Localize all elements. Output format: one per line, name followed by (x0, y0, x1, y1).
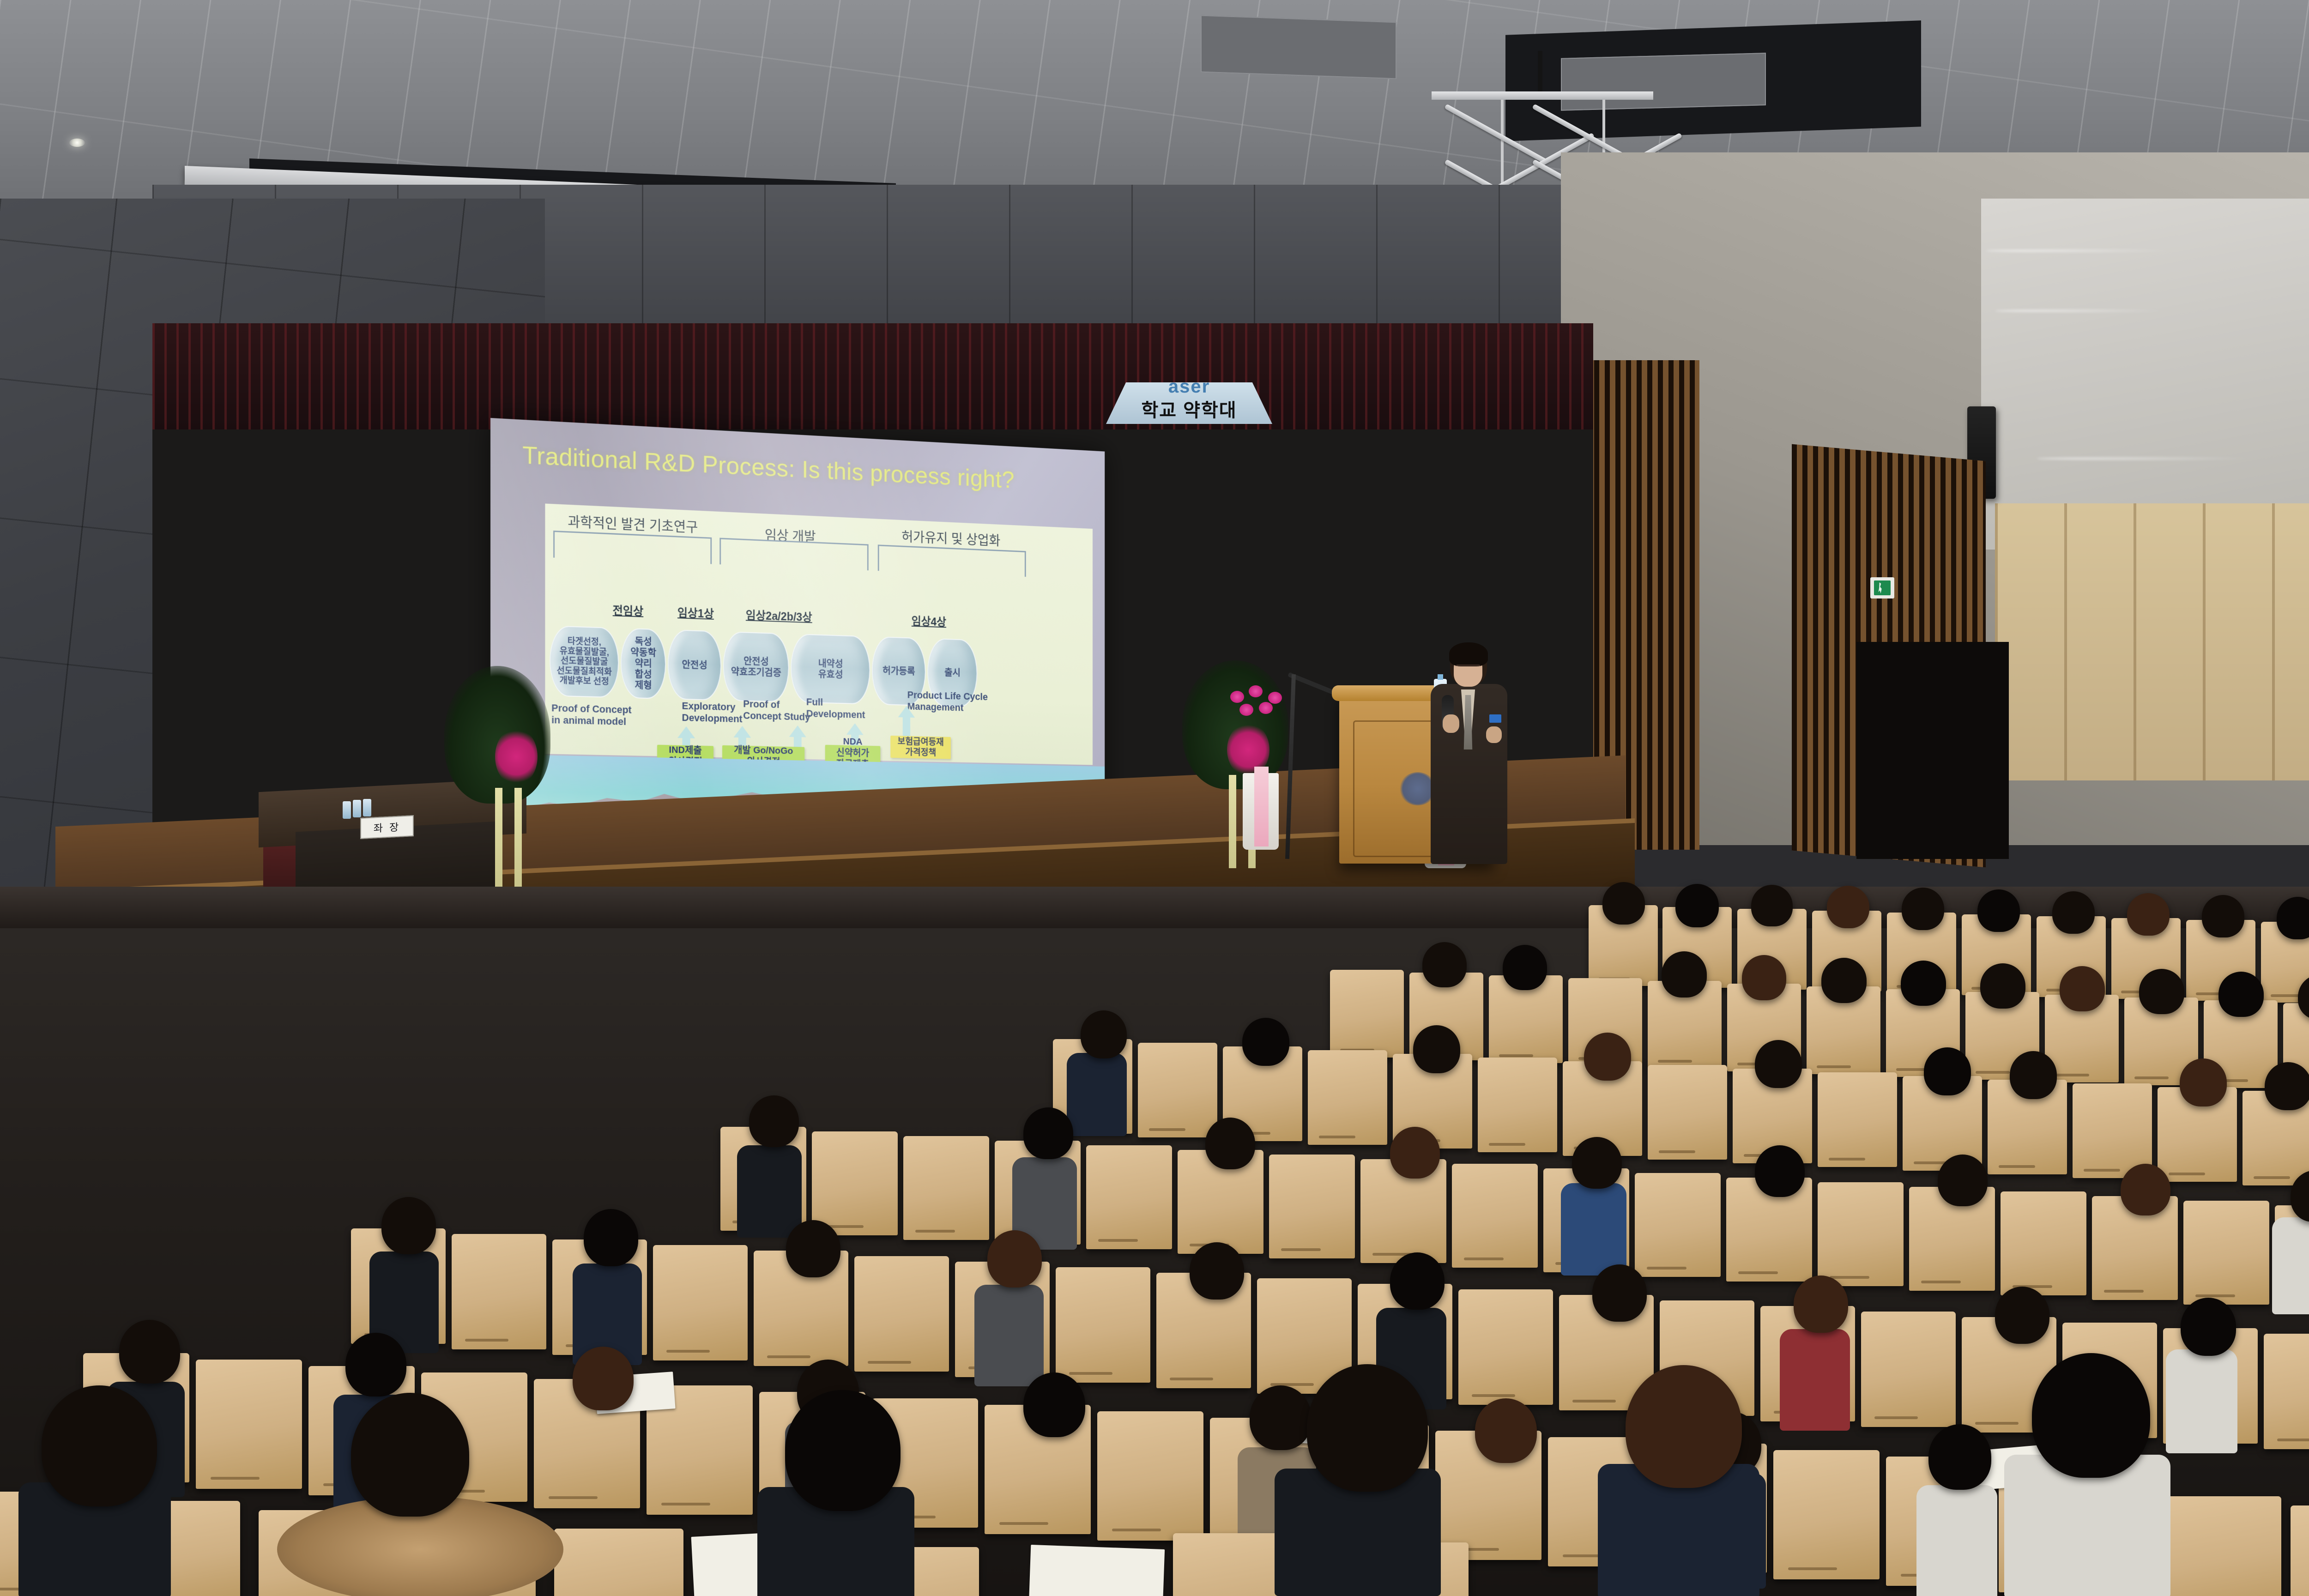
attendee-head-f10 (1250, 1385, 1312, 1450)
seat-d2[interactable] (903, 1136, 989, 1240)
attendee-head-b5 (1742, 955, 1786, 1000)
attendee-head-e10 (1390, 1252, 1445, 1310)
attendee-body-e18 (2166, 1349, 2237, 1453)
english-label-0: Proof of Concept in animal model (551, 702, 631, 728)
attendee-head-e18 (2181, 1298, 2236, 1356)
seat-e3[interactable] (653, 1245, 748, 1360)
pipeline-stage-3: 안전성 약효조기검증 (723, 631, 789, 702)
notepad-foreground-2 (1029, 1545, 1165, 1596)
presenter-glasses (1456, 665, 1481, 671)
presenter-hand-lapel (1486, 726, 1502, 743)
presenter (1427, 644, 1508, 861)
attendee-head-e6 (987, 1230, 1042, 1288)
slide-title: Traditional R&D Process: Is this process… (522, 441, 1105, 498)
attendee-head-e12 (1592, 1264, 1647, 1322)
projection-screen: Traditional R&D Process: Is this process… (490, 418, 1105, 828)
attendee-head-c13 (2180, 1058, 2227, 1106)
attendee-head-c6 (1584, 1033, 1631, 1081)
seat-e5[interactable] (854, 1256, 949, 1372)
attendee-head-a9 (2202, 895, 2244, 937)
attendee-head-e14 (1794, 1276, 1848, 1333)
seat-d6[interactable] (1269, 1155, 1355, 1258)
seat-c5[interactable] (1478, 1058, 1557, 1152)
seat-f1[interactable] (196, 1360, 302, 1489)
attendee-head-b8 (1980, 963, 2025, 1009)
phase-group-1-bracket (719, 538, 868, 571)
seat-g13[interactable] (2291, 1505, 2309, 1596)
seat-c7[interactable] (1648, 1065, 1727, 1160)
attendee-head-b7 (1901, 961, 1946, 1006)
presenter-hand-mic (1443, 714, 1459, 733)
seat-e1[interactable] (452, 1234, 546, 1349)
attendee-head-d15 (2121, 1164, 2170, 1215)
seat-d14[interactable] (2001, 1191, 2086, 1295)
seat-c3[interactable] (1308, 1050, 1387, 1145)
attendee-head-f8 (1023, 1372, 1085, 1437)
auditorium-lecture-scene: SANYO aser 학교 약학대 Traditional R&D Proces… (0, 0, 2309, 1596)
seat-f15[interactable] (1773, 1450, 1880, 1579)
water-bottle-2 (353, 800, 361, 817)
english-label-1: Exploratory Development (682, 700, 743, 725)
attendee-head-f16 (1928, 1424, 1991, 1490)
attendee-head-b2 (1503, 945, 1547, 990)
attendee-body-e14 (1780, 1329, 1850, 1431)
attendee-head-d13 (1938, 1155, 1988, 1206)
decision-box-3: 보험급여등재 가격정책 (890, 736, 951, 759)
attendee-head-c0 (1081, 1010, 1127, 1058)
pipeline-stage-4: 내약성 유효성 (791, 634, 870, 705)
attendee-head-e0 (381, 1197, 436, 1254)
attendee-head-f4 (573, 1347, 634, 1410)
english-label-2: Proof of Concept Study (743, 698, 810, 723)
banner-line-bottom: 학교 약학대 (1141, 395, 1237, 422)
attendee-body-e6 (974, 1285, 1044, 1386)
water-bottle-1 (343, 801, 351, 819)
seat-d8[interactable] (1452, 1164, 1538, 1268)
attendee-head-g2-fur (351, 1393, 469, 1517)
seat-b0[interactable] (1330, 970, 1404, 1058)
seat-c9[interactable] (1818, 1072, 1897, 1167)
attendee-body-d0 (737, 1145, 802, 1238)
pipeline-stage-0: 타겟선정, 유효물질발굴, 선도물질발굴 선도물질최적화 개발후보 선정 (550, 625, 619, 698)
phase-group-0-bracket (553, 531, 712, 564)
attendee-body-d9 (1561, 1183, 1626, 1276)
attendee-head-c8 (1755, 1040, 1802, 1088)
seat-d16[interactable] (2183, 1201, 2269, 1305)
phase-group-2-bracket (878, 544, 1026, 577)
seat-d4[interactable] (1086, 1145, 1172, 1249)
phase-marker-3: 임상4상 (912, 612, 946, 629)
attendee-head-d3 (1023, 1107, 1073, 1159)
attendee-head-c11 (2010, 1051, 2057, 1099)
stage-curtain (152, 323, 1593, 429)
seat-d1[interactable] (812, 1131, 898, 1235)
slide-diagram: 과학적인 발견 기초연구 임상 개발 허가유지 및 상업화 전임상 임상1상 임… (545, 503, 1093, 765)
right-doorway (1856, 642, 2009, 859)
seat-d10[interactable] (1635, 1173, 1721, 1277)
ceiling-tile-a (1201, 15, 1396, 79)
seat-d12[interactable] (1818, 1182, 1904, 1286)
pipeline-stage-2: 안전성 (668, 629, 721, 701)
emergency-exit-sign (1870, 577, 1894, 598)
right-wall-white-panels (1981, 199, 2309, 550)
attendee-head-d5 (1205, 1118, 1255, 1169)
phase-marker-2: 임상2a/2b/3상 (746, 606, 812, 625)
pipeline-stage-1: 독성 약동학 약리 합성 제형 (621, 628, 666, 699)
attendee-head-g5 (785, 1390, 901, 1511)
presenter-name-badge (1489, 714, 1501, 723)
phase-marker-1: 임상1상 (677, 604, 714, 622)
chairperson-nameplate: 좌 장 (360, 815, 414, 839)
attendee-head-b10 (2139, 969, 2184, 1014)
attendee-head-d11 (1755, 1145, 1805, 1197)
attendee-head-f2 (345, 1333, 406, 1396)
attendee-head-e2 (584, 1209, 638, 1266)
congratulatory-plant-left (444, 666, 550, 888)
attendee-head-d7 (1390, 1127, 1440, 1179)
english-label-3: Full Development (806, 696, 865, 720)
attendee-body-d17 (2272, 1217, 2309, 1314)
attendee-head-e4 (786, 1220, 840, 1277)
seat-f9[interactable] (1097, 1411, 1203, 1541)
event-banner: aser 학교 약학대 (1106, 382, 1272, 424)
attendee-head-a5 (1902, 888, 1944, 930)
attendee-head-c4 (1413, 1025, 1460, 1073)
attendee-head-g10 (1626, 1365, 1742, 1488)
seat-e11[interactable] (1458, 1289, 1553, 1405)
attendee-head-b6 (1821, 958, 1867, 1003)
phase-marker-0: 전임상 (613, 602, 644, 619)
attendee-head-g9 (1307, 1364, 1428, 1492)
attendee-head-e16 (1995, 1287, 2049, 1344)
attendee-head-d0 (749, 1095, 799, 1147)
seat-e7[interactable] (1056, 1267, 1150, 1383)
attendee-head-b9 (2060, 966, 2105, 1011)
seat-e19[interactable] (2264, 1334, 2309, 1449)
attendee-head-a3 (1751, 885, 1793, 926)
attendee-head-a4 (1827, 886, 1869, 928)
attendee-head-a7 (2052, 891, 2095, 934)
banner-line-top: aser (1168, 382, 1210, 397)
attendee-head-a8 (2127, 893, 2170, 936)
attendee-head-a1 (1602, 882, 1645, 925)
attendee-head-c2 (1242, 1018, 1289, 1066)
attendee-head-f12 (1475, 1398, 1537, 1463)
seat-g4[interactable] (554, 1529, 683, 1596)
attendee-head-a6 (1977, 889, 2020, 932)
attendee-head-g12 (2032, 1353, 2150, 1478)
attendee-head-b4 (1662, 951, 1707, 997)
english-label-4: Product Life Cycle Management (907, 689, 988, 714)
flower-basket-right-stage (1228, 683, 1293, 850)
seat-c1[interactable] (1138, 1043, 1217, 1137)
attendee-body-c0 (1067, 1053, 1127, 1136)
attendee-head-c10 (1924, 1047, 1971, 1095)
attendee-head-c14 (2265, 1062, 2309, 1110)
downlight-6 (69, 139, 85, 147)
water-bottle-3 (363, 799, 371, 816)
attendee-head-d9 (1572, 1137, 1622, 1189)
attendee-head-b11 (2218, 972, 2264, 1017)
attendee-head-b1 (1422, 942, 1467, 987)
seat-e15[interactable] (1861, 1312, 1956, 1427)
attendee-head-g0 (42, 1385, 157, 1506)
attendee-head-a2 (1675, 884, 1719, 927)
projector-cable (1538, 51, 1542, 97)
attendee-head-e8 (1190, 1242, 1244, 1300)
attendee-head-f0 (119, 1320, 180, 1384)
right-wall-birch-paneling (1995, 503, 2309, 780)
presenter-hair (1449, 642, 1488, 666)
attendee-body-f16 (1916, 1485, 1997, 1596)
audience-area (0, 887, 2309, 1596)
